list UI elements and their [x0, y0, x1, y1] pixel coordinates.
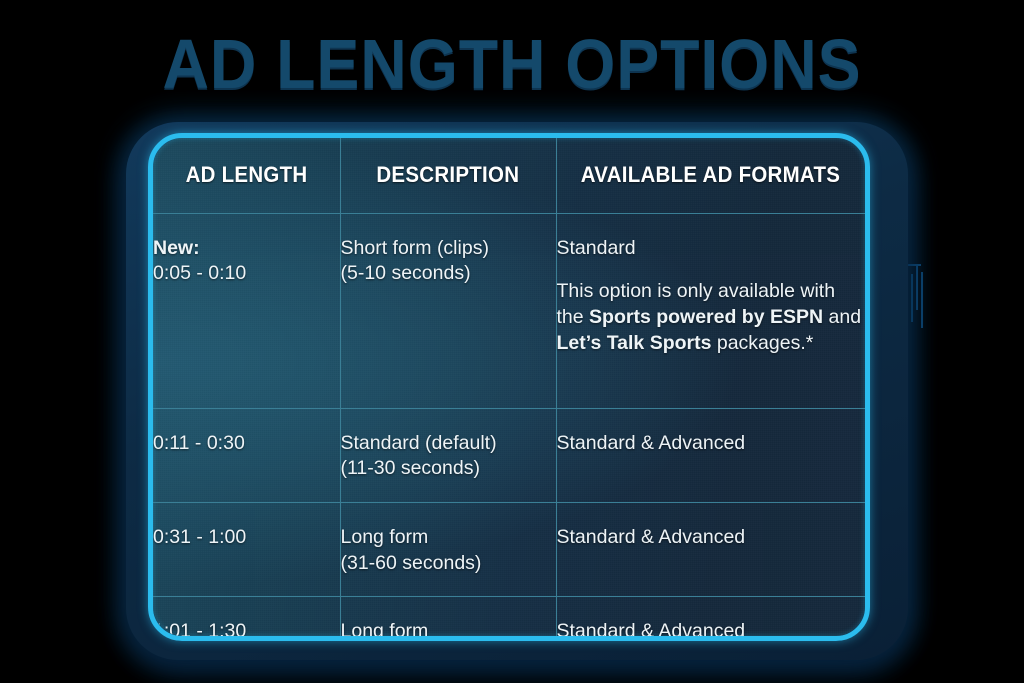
table-row: New: 0:05 - 0:10 Short form (clips) (5-1…: [153, 213, 865, 408]
table-body: New: 0:05 - 0:10 Short form (clips) (5-1…: [153, 213, 865, 636]
ad-length-value: 0:31 - 1:00: [153, 526, 246, 548]
column-header-ad-length-label: AD LENGTH: [185, 162, 307, 188]
description-line-2: (31-60 seconds): [341, 552, 482, 574]
formats-note-part-3: packages.*: [711, 332, 813, 354]
column-header-description: DESCRIPTION: [340, 138, 556, 213]
column-header-ad-length: AD LENGTH: [153, 138, 340, 213]
description-line-2: (11-30 seconds): [341, 457, 480, 479]
cell-ad-length: 0:31 - 1:00: [153, 502, 340, 596]
column-header-description-label: DESCRIPTION: [377, 162, 520, 188]
column-header-available-ad-formats-label: AVAILABLE AD FORMATS: [581, 162, 840, 188]
ad-length-value: 1:01 - 1:30: [153, 620, 246, 636]
formats-note: This option is only available with the S…: [557, 279, 866, 356]
cell-available-formats: Standard & Advanced: [556, 597, 865, 636]
table-header: AD LENGTH DESCRIPTION AVAILABLE AD FORMA…: [153, 138, 865, 213]
formats-note-bold-espn: Sports powered by ESPN: [589, 306, 823, 328]
description-line-1: Standard (default): [341, 432, 497, 454]
formats-value: Standard & Advanced: [557, 432, 746, 454]
table-row: 0:31 - 1:00 Long form (31-60 seconds) St…: [153, 502, 865, 596]
description-line-1: Short form (clips): [341, 237, 489, 259]
cell-ad-length: 1:01 - 1:30: [153, 597, 340, 636]
new-badge-label: New:: [153, 237, 200, 259]
cell-description: Long form (61-90 seconds: [340, 597, 556, 636]
cell-description: Short form (clips) (5-10 seconds): [340, 213, 556, 408]
cell-available-formats: Standard This option is only available w…: [556, 213, 865, 408]
cell-ad-length: 0:11 - 0:30: [153, 408, 340, 502]
edge-artifact-3: [911, 274, 913, 322]
formats-note-bold-lets-talk-sports: Let’s Talk Sports: [557, 332, 712, 354]
description-line-1: Long form: [341, 620, 429, 636]
table-row: 0:11 - 0:30 Standard (default) (11-30 se…: [153, 408, 865, 502]
description-line-1: Long form: [341, 526, 429, 548]
cell-ad-length: New: 0:05 - 0:10: [153, 213, 340, 408]
formats-note-part-2: and: [823, 306, 861, 328]
spacer: [557, 261, 866, 279]
formats-value: Standard: [557, 237, 636, 259]
page-title: AD LENGTH OPTIONS: [41, 28, 983, 102]
ad-length-value: 0:05 - 0:10: [153, 262, 246, 284]
description-line-2: (5-10 seconds): [341, 262, 471, 284]
formats-value: Standard & Advanced: [557, 620, 746, 636]
edge-artifact-4: [916, 266, 918, 310]
cell-description: Long form (31-60 seconds): [340, 502, 556, 596]
ad-length-value: 0:11 - 0:30: [153, 432, 245, 454]
table-row: 1:01 - 1:30 Long form (61-90 seconds Sta…: [153, 597, 865, 636]
cell-description: Standard (default) (11-30 seconds): [340, 408, 556, 502]
column-header-available-ad-formats: AVAILABLE AD FORMATS: [556, 138, 865, 213]
edge-artifact-5: [921, 272, 923, 328]
formats-value: Standard & Advanced: [557, 526, 746, 548]
table-header-row: AD LENGTH DESCRIPTION AVAILABLE AD FORMA…: [153, 138, 865, 213]
ad-length-options-table: AD LENGTH DESCRIPTION AVAILABLE AD FORMA…: [153, 138, 865, 636]
ad-length-table-container: AD LENGTH DESCRIPTION AVAILABLE AD FORMA…: [153, 138, 865, 636]
cell-available-formats: Standard & Advanced: [556, 408, 865, 502]
cell-available-formats: Standard & Advanced: [556, 502, 865, 596]
